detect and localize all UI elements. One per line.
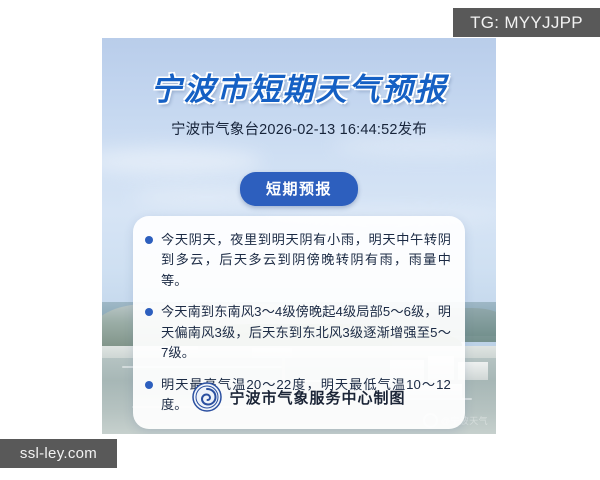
page-title: 宁波市短期天气预报 [102,64,496,109]
site-watermark-chip: ssl-ley.com [0,439,117,468]
badge-container: 短期预报 [102,172,496,206]
telegram-watermark-chip: TG: MYYJJPP [453,8,600,37]
weather-forecast-poster: @宁波天气 宁波市短期天气预报 宁波市气象台2026-02-13 16:44:5… [102,38,496,434]
footer-credit-row: 宁波市气象服务中心制图 [102,382,496,412]
bullet-dot-icon [145,308,153,316]
forecast-wind-text: 今天南到东南风3～4级傍晚起4级局部5～6级，明天偏南风3级，后天东到东北风3级… [161,302,451,363]
forecast-sky-text: 今天阴天，夜里到明天阴有小雨，明天中午转阴到多云，后天多云到阴傍晚转阴有雨，雨量… [161,230,451,291]
issue-timestamp: 宁波市气象台2026-02-13 16:44:52发布 [102,118,496,139]
list-item: 今天阴天，夜里到明天阴有小雨，明天中午转阴到多云，后天多云到阴傍晚转阴有雨，雨量… [145,230,451,291]
bullet-dot-icon [145,236,153,244]
footer-credit-label: 宁波市气象服务中心制图 [229,387,405,408]
cloud-wisp-icon [102,148,262,174]
list-item: 今天南到东南风3～4级傍晚起4级局部5～6级，明天偏南风3级，后天东到东北风3级… [145,302,451,363]
meteorological-bureau-logo-icon [192,382,222,412]
short-term-forecast-badge: 短期预报 [240,172,358,206]
